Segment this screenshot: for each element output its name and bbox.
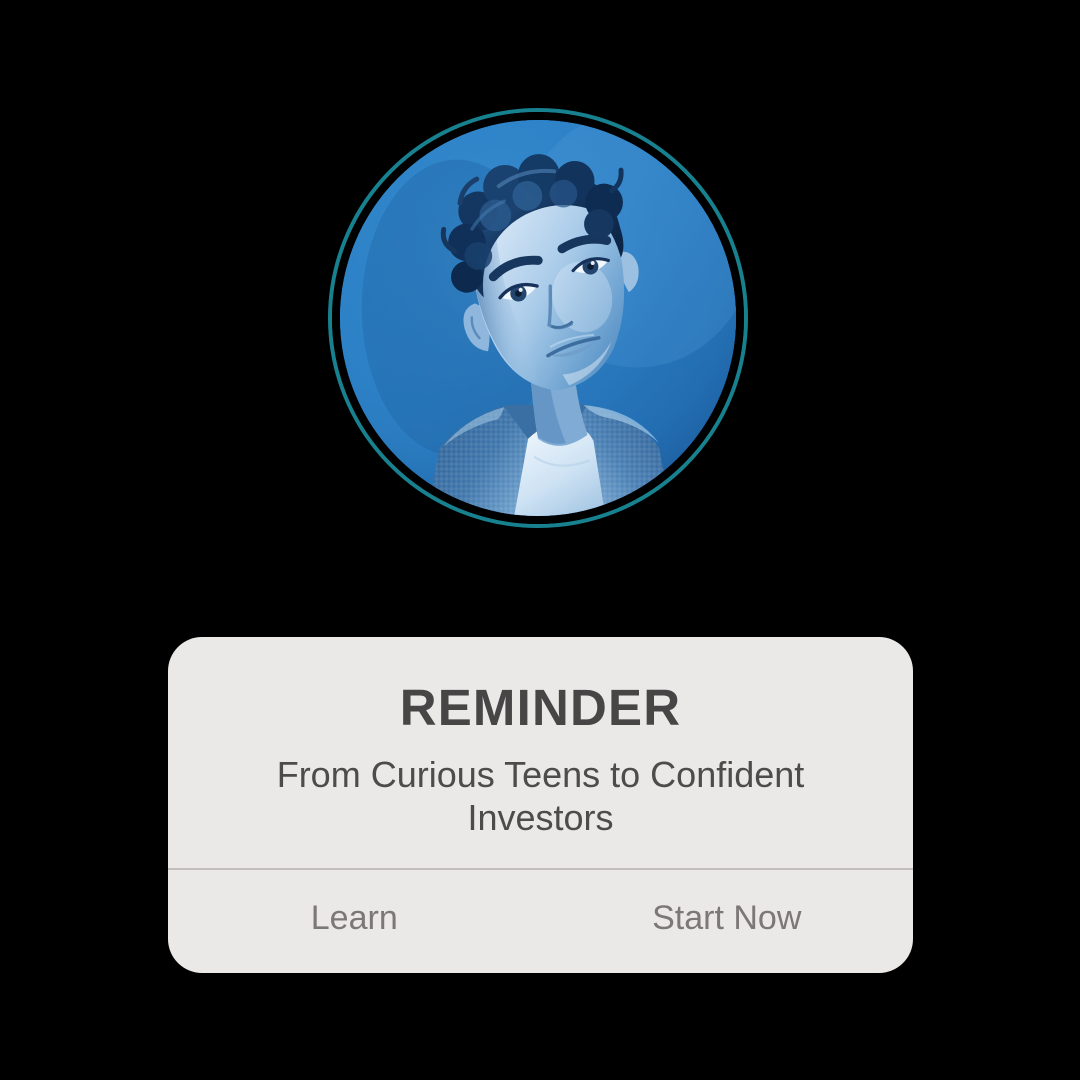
notification-card-screen: REMINDER From Curious Teens to Confident…: [0, 0, 1080, 1080]
card-body: REMINDER From Curious Teens to Confident…: [168, 637, 913, 840]
reminder-card: REMINDER From Curious Teens to Confident…: [168, 637, 913, 973]
learn-button[interactable]: Learn: [168, 901, 541, 943]
portrait-photo: [340, 120, 736, 516]
card-subtitle: From Curious Teens to Confident Investor…: [204, 753, 877, 841]
card-actions: Learn Start Now: [168, 870, 913, 973]
start-now-button[interactable]: Start Now: [541, 901, 914, 943]
profile-portrait: [328, 108, 748, 528]
card-title: REMINDER: [204, 681, 877, 735]
